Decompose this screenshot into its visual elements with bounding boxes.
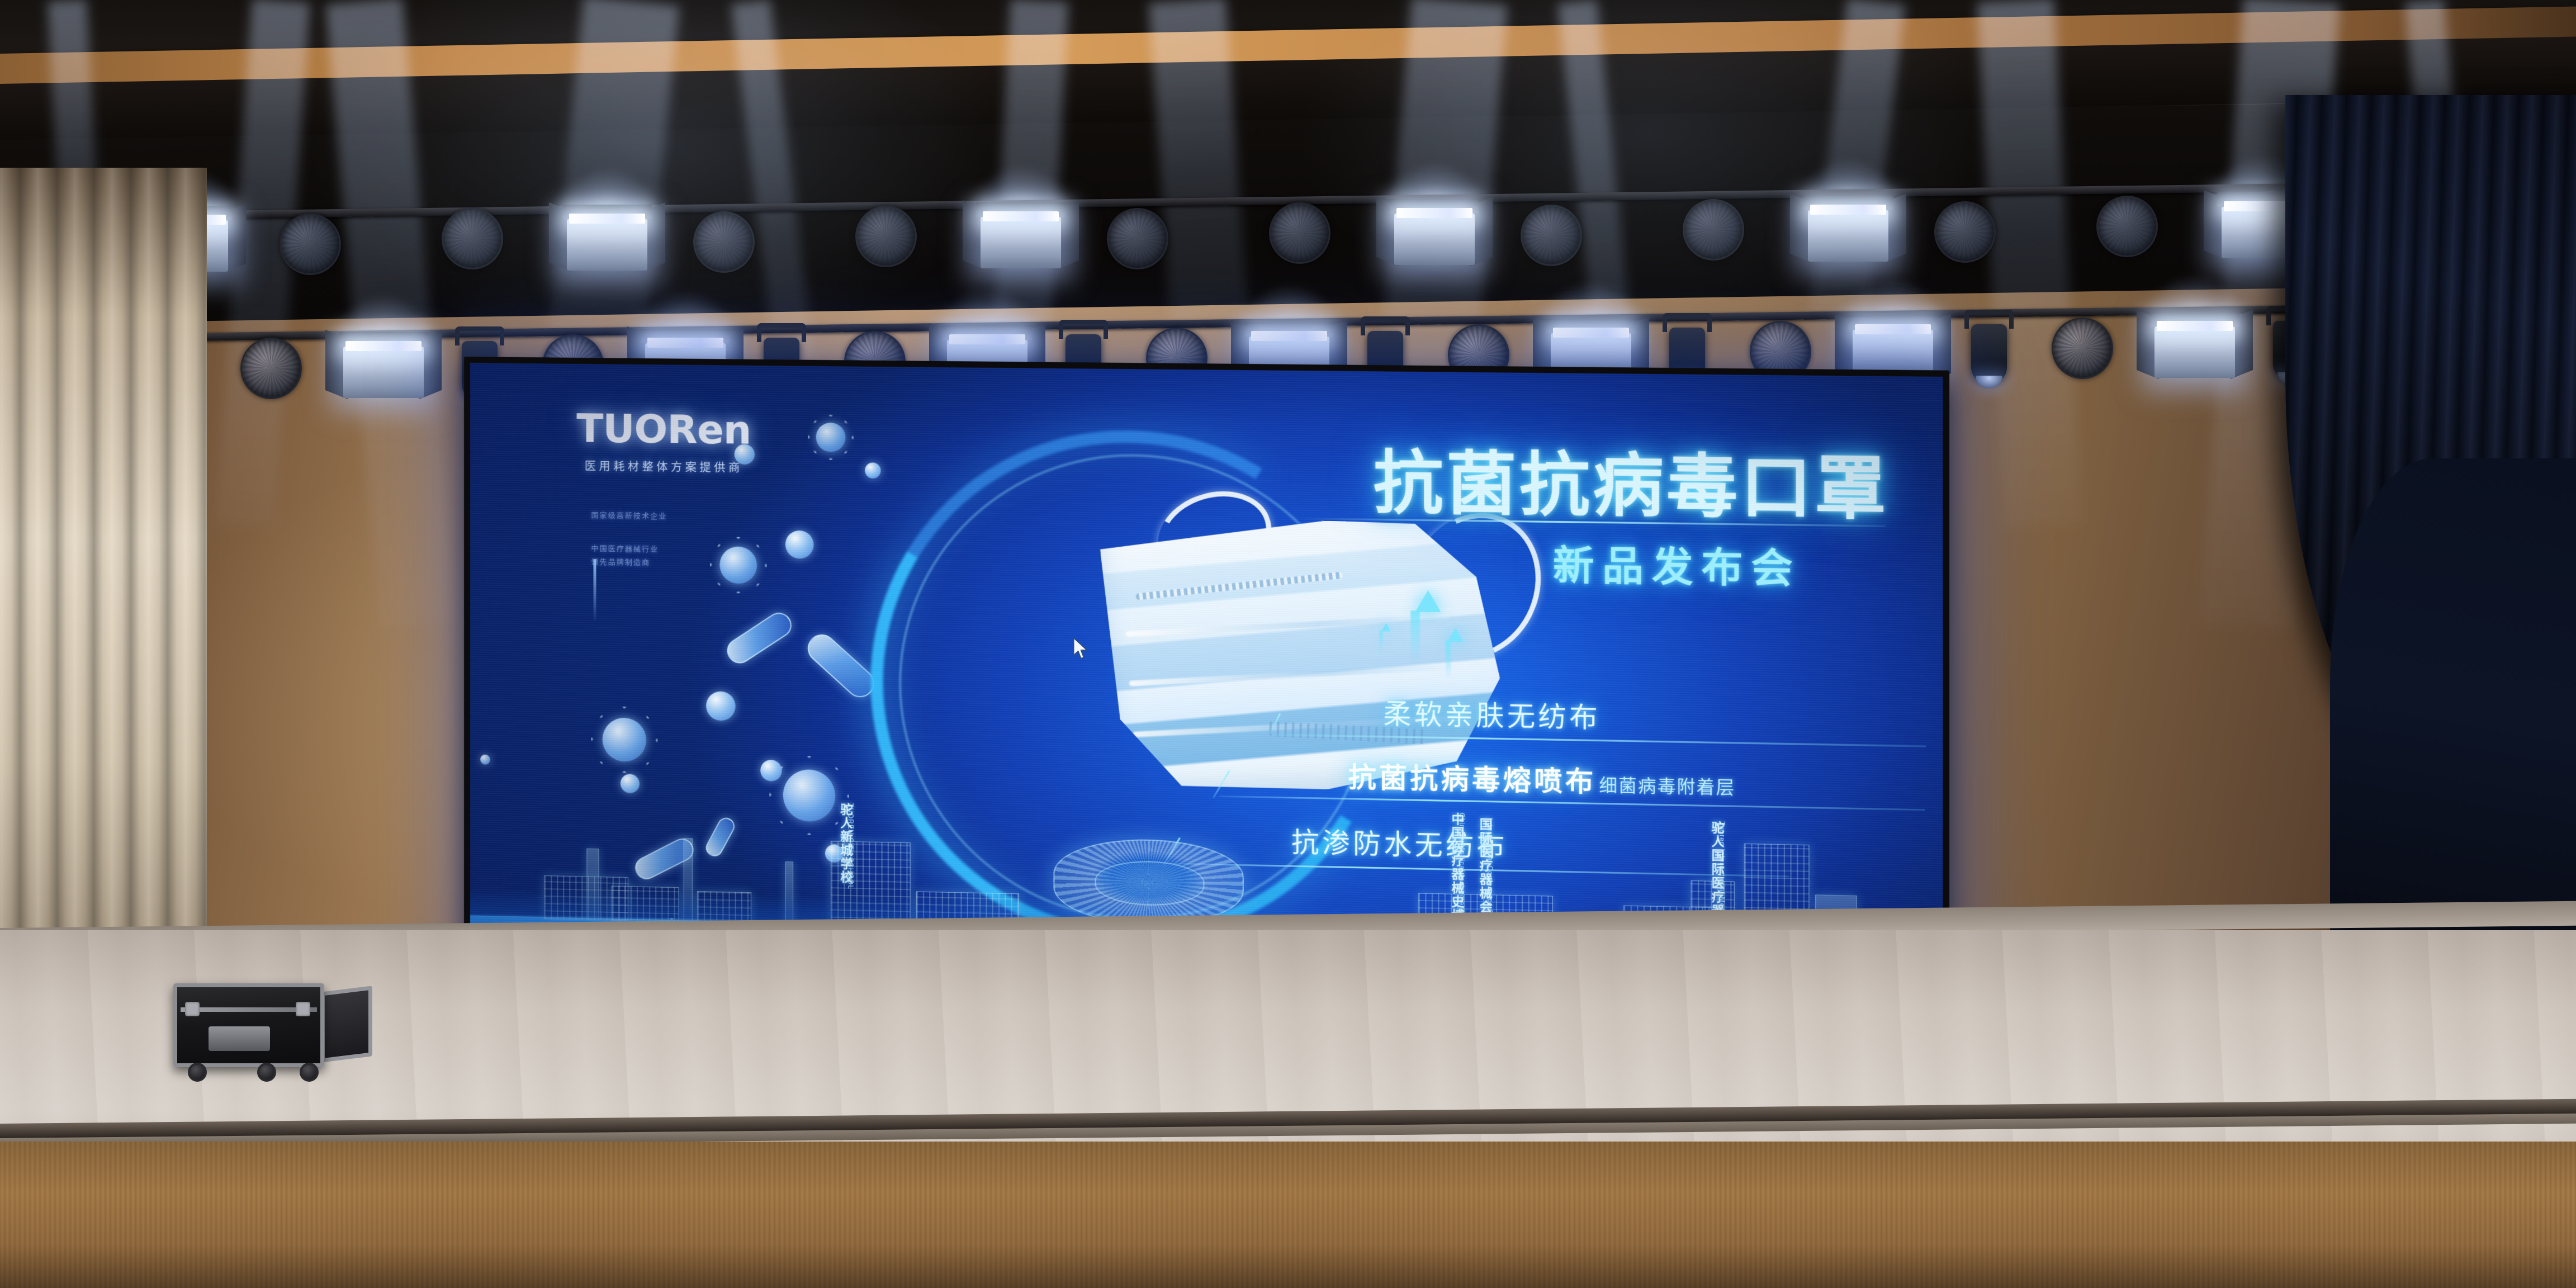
rod-bacterium-3: [802, 628, 880, 703]
stadium-arena: [1053, 837, 1243, 927]
flight-case-latch-right: [296, 1002, 310, 1016]
flight-case: [173, 983, 324, 1067]
auditorium-scene: TUORen 医用耗材整体方案提供商 国家级高新技术企业 中国医疗器械行业 领先…: [0, 0, 2576, 1288]
building-04: [684, 838, 693, 922]
par-can-light-40: [2052, 318, 2113, 379]
building-03: [612, 886, 679, 922]
par-can-light-7: [855, 206, 917, 267]
arrow-large-icon: [1415, 590, 1441, 613]
curtain-left: [0, 168, 207, 995]
stage-floodlight-23: [335, 332, 432, 399]
coccus-bacterium-5: [760, 760, 782, 782]
slide-title: 抗菌抗病毒口罩: [1374, 427, 1890, 533]
mask-pleat-1: [1125, 614, 1450, 637]
city-label-school: 驼人新城学校 TUOREN CITY SCHOOL: [831, 803, 855, 889]
flight-case-wheel-3: [300, 1063, 319, 1082]
arrow-medium-icon: [1448, 628, 1463, 642]
arrow-large-stem: [1410, 610, 1420, 663]
flight-case-label-plate: [209, 1026, 270, 1051]
virus-particle-2: [719, 546, 757, 584]
stage-floodlight-14: [1800, 196, 1896, 263]
par-can-light-13: [1683, 199, 1744, 261]
flight-case-side: [321, 986, 372, 1062]
arrow-small-stem: [1380, 630, 1382, 654]
coccus-bacterium-3: [735, 444, 755, 465]
par-can-light-6: [693, 211, 755, 273]
slide-subtitle: 新品发布会: [1553, 533, 1801, 595]
coccus-bacterium-1: [706, 691, 736, 721]
mask-nose-wire: [1135, 571, 1343, 600]
virus-particle-3: [816, 423, 846, 452]
feature-label-1: 柔软亲肤无纺布: [1383, 698, 1600, 734]
stage-apron: [0, 1142, 2576, 1288]
stadium-inner-ring: [1095, 860, 1204, 906]
moving-head-light-39: [1962, 310, 2016, 394]
par-can-light-15: [1934, 201, 1996, 263]
par-can-light-10: [1269, 202, 1330, 264]
building-06: [785, 861, 793, 925]
stage-floodlight-8: [973, 202, 1069, 269]
feature-row-1: 柔软亲肤无纺布: [1383, 692, 1600, 735]
par-can-light-12: [1521, 205, 1582, 266]
coccus-bacterium-8: [865, 462, 881, 479]
city-label-school-cn: 驼人新城学校: [836, 803, 855, 884]
par-can-light-16: [2096, 196, 2158, 257]
flight-case-latch-left: [185, 1002, 200, 1016]
par-can-light-22: [240, 338, 302, 399]
coccus-bacterium-7: [480, 755, 490, 765]
par-can-light-4: [442, 208, 503, 269]
feature-label-2: 抗菌抗病毒熔喷布: [1348, 761, 1597, 798]
stage-floodlight-5: [559, 205, 655, 272]
par-can-light-9: [1107, 208, 1168, 269]
flight-case-body: [173, 983, 324, 1067]
building-02: [586, 849, 599, 921]
stage-floodlight-11: [1386, 199, 1483, 266]
coccus-bacterium-4: [785, 531, 814, 559]
arrow-small-icon: [1381, 623, 1391, 632]
feature-note-2: 细菌病毒附着层: [1599, 775, 1735, 798]
rod-bacterium-2: [722, 608, 796, 669]
stage-floodlight-41: [2147, 312, 2243, 379]
feature-row-2: 抗菌抗病毒熔喷布 细菌病毒附着层: [1348, 755, 1736, 802]
flight-case-wheel-2: [257, 1063, 276, 1082]
building-05: [697, 891, 751, 924]
coccus-bacterium-2: [621, 774, 640, 793]
arrow-medium-stem: [1446, 640, 1451, 678]
mask-pleat-2: [1129, 663, 1469, 686]
virus-particle-1: [603, 717, 647, 762]
flight-case-wheel-1: [188, 1063, 207, 1082]
par-can-light-3: [280, 214, 341, 275]
